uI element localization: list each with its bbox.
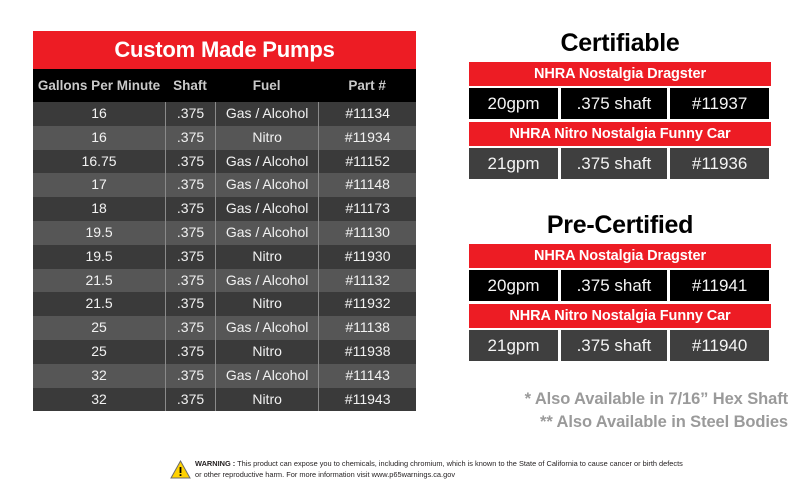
- table-row: 25.375Gas / Alcohol#11138: [33, 316, 416, 340]
- cell-shaft: .375: [165, 150, 215, 174]
- cell-gallons-per-minute: 19.5: [33, 245, 165, 269]
- table-row: 19.5.375Gas / Alcohol#11130: [33, 221, 416, 245]
- cell-shaft: .375: [165, 221, 215, 245]
- cert-category-bar: NHRA Nostalgia Dragster: [469, 62, 771, 86]
- cert-cell-shaft: .375 shaft: [561, 148, 667, 179]
- cell-shaft: .375: [165, 269, 215, 293]
- prop65-warning-label: WARNING :: [195, 459, 235, 468]
- cell-gallons-per-minute: 16: [33, 102, 165, 126]
- cell-shaft: .375: [165, 245, 215, 269]
- cert-cell-shaft: .375 shaft: [561, 88, 667, 119]
- pumps-table-header-row: Gallons Per Minute Shaft Fuel Part #: [33, 69, 416, 102]
- column-header-fuel: Fuel: [215, 79, 318, 93]
- cell-fuel: Gas / Alcohol: [215, 316, 318, 340]
- table-row: 18.375Gas / Alcohol#11173: [33, 197, 416, 221]
- cert-cell-part-number: #11936: [670, 148, 770, 179]
- cell-shaft: .375: [165, 292, 215, 316]
- cell-gallons-per-minute: 25: [33, 340, 165, 364]
- cell-part-number: #11932: [318, 292, 416, 316]
- cert-cell-part-number: #11937: [670, 88, 770, 119]
- table-row: 21.5.375Nitro#11932: [33, 292, 416, 316]
- cert-cell-gpm: 20gpm: [469, 88, 558, 119]
- precertified-heading: Pre-Certified: [469, 211, 771, 240]
- cell-fuel: Gas / Alcohol: [215, 173, 318, 197]
- cert-spec-row: 20gpm.375 shaft#11941: [469, 270, 771, 301]
- cell-fuel: Gas / Alcohol: [215, 364, 318, 388]
- cell-part-number: #11134: [318, 102, 416, 126]
- table-row: 21.5.375Gas / Alcohol#11132: [33, 269, 416, 293]
- cert-category-bar: NHRA Nostalgia Dragster: [469, 244, 771, 268]
- cell-part-number: #11934: [318, 126, 416, 150]
- cell-gallons-per-minute: 16.75: [33, 150, 165, 174]
- footnote-hex-shaft: * Also Available in 7/16” Hex Shaft: [440, 388, 788, 411]
- column-header-gallons-per-minute: Gallons Per Minute: [33, 79, 165, 93]
- cell-shaft: .375: [165, 364, 215, 388]
- cert-cell-gpm: 21gpm: [469, 330, 558, 361]
- cell-gallons-per-minute: 18: [33, 197, 165, 221]
- cell-fuel: Nitro: [215, 292, 318, 316]
- cert-spec-row: 21gpm.375 shaft#11940: [469, 330, 771, 361]
- cell-part-number: #11143: [318, 364, 416, 388]
- cell-gallons-per-minute: 16: [33, 126, 165, 150]
- cell-part-number: #11132: [318, 269, 416, 293]
- cell-fuel: Nitro: [215, 126, 318, 150]
- pumps-table-body: 16.375Gas / Alcohol#1113416.375Nitro#119…: [33, 102, 416, 411]
- table-row: 17.375Gas / Alcohol#11148: [33, 173, 416, 197]
- column-header-part-number: Part #: [318, 79, 416, 93]
- cell-fuel: Gas / Alcohol: [215, 269, 318, 293]
- cell-gallons-per-minute: 21.5: [33, 292, 165, 316]
- custom-made-pumps-table: Custom Made Pumps Gallons Per Minute Sha…: [33, 31, 416, 411]
- prop65-warning: WARNING : This product can expose you to…: [170, 459, 690, 484]
- cert-category-bar: NHRA Nitro Nostalgia Funny Car: [469, 304, 771, 328]
- cell-part-number: #11148: [318, 173, 416, 197]
- footnote-steel-bodies: ** Also Available in Steel Bodies: [440, 411, 788, 434]
- cell-fuel: Gas / Alcohol: [215, 150, 318, 174]
- column-header-shaft: Shaft: [165, 79, 215, 93]
- table-row: 25.375Nitro#11938: [33, 340, 416, 364]
- cell-gallons-per-minute: 17: [33, 173, 165, 197]
- cert-cell-part-number: #11941: [670, 270, 770, 301]
- cell-shaft: .375: [165, 102, 215, 126]
- cell-gallons-per-minute: 32: [33, 388, 165, 412]
- cell-fuel: Nitro: [215, 340, 318, 364]
- cell-fuel: Gas / Alcohol: [215, 102, 318, 126]
- certifiable-block: NHRA Nostalgia Dragster20gpm.375 shaft#1…: [469, 62, 771, 182]
- cert-spec-row: 20gpm.375 shaft#11937: [469, 88, 771, 119]
- cell-part-number: #11138: [318, 316, 416, 340]
- cell-fuel: Nitro: [215, 388, 318, 412]
- cert-cell-gpm: 21gpm: [469, 148, 558, 179]
- column-header-gallons-per-minute-label: Gallons Per Minute: [38, 78, 160, 93]
- cell-gallons-per-minute: 19.5: [33, 221, 165, 245]
- cell-part-number: #11943: [318, 388, 416, 412]
- prop65-warning-text: WARNING : This product can expose you to…: [195, 459, 690, 480]
- certifiable-heading: Certifiable: [469, 29, 771, 58]
- cell-fuel: Gas / Alcohol: [215, 197, 318, 221]
- cert-cell-shaft: .375 shaft: [561, 330, 667, 361]
- prop65-warning-body: This product can expose you to chemicals…: [195, 459, 683, 479]
- table-row: 16.375Nitro#11934: [33, 126, 416, 150]
- cell-part-number: #11930: [318, 245, 416, 269]
- cell-part-number: #11173: [318, 197, 416, 221]
- cell-gallons-per-minute: 32: [33, 364, 165, 388]
- warning-triangle-icon: [170, 460, 191, 484]
- table-row: 16.75.375Gas / Alcohol#11152: [33, 150, 416, 174]
- cell-shaft: .375: [165, 388, 215, 412]
- pumps-table-title: Custom Made Pumps: [33, 31, 416, 69]
- precertified-block: NHRA Nostalgia Dragster20gpm.375 shaft#1…: [469, 244, 771, 364]
- cell-part-number: #11152: [318, 150, 416, 174]
- table-row: 32.375Gas / Alcohol#11143: [33, 364, 416, 388]
- cell-gallons-per-minute: 25: [33, 316, 165, 340]
- table-row: 16.375Gas / Alcohol#11134: [33, 102, 416, 126]
- cert-cell-shaft: .375 shaft: [561, 270, 667, 301]
- cell-shaft: .375: [165, 340, 215, 364]
- cert-spec-row: 21gpm.375 shaft#11936: [469, 148, 771, 179]
- cell-fuel: Nitro: [215, 245, 318, 269]
- table-row: 32.375Nitro#11943: [33, 388, 416, 412]
- cell-shaft: .375: [165, 126, 215, 150]
- cell-shaft: .375: [165, 316, 215, 340]
- cert-cell-gpm: 20gpm: [469, 270, 558, 301]
- cell-shaft: .375: [165, 173, 215, 197]
- table-row: 19.5.375Nitro#11930: [33, 245, 416, 269]
- cell-shaft: .375: [165, 197, 215, 221]
- cell-gallons-per-minute: 21.5: [33, 269, 165, 293]
- cell-part-number: #11130: [318, 221, 416, 245]
- cell-fuel: Gas / Alcohol: [215, 221, 318, 245]
- footnotes: * Also Available in 7/16” Hex Shaft ** A…: [440, 388, 788, 434]
- cell-part-number: #11938: [318, 340, 416, 364]
- cert-category-bar: NHRA Nitro Nostalgia Funny Car: [469, 122, 771, 146]
- cert-cell-part-number: #11940: [670, 330, 770, 361]
